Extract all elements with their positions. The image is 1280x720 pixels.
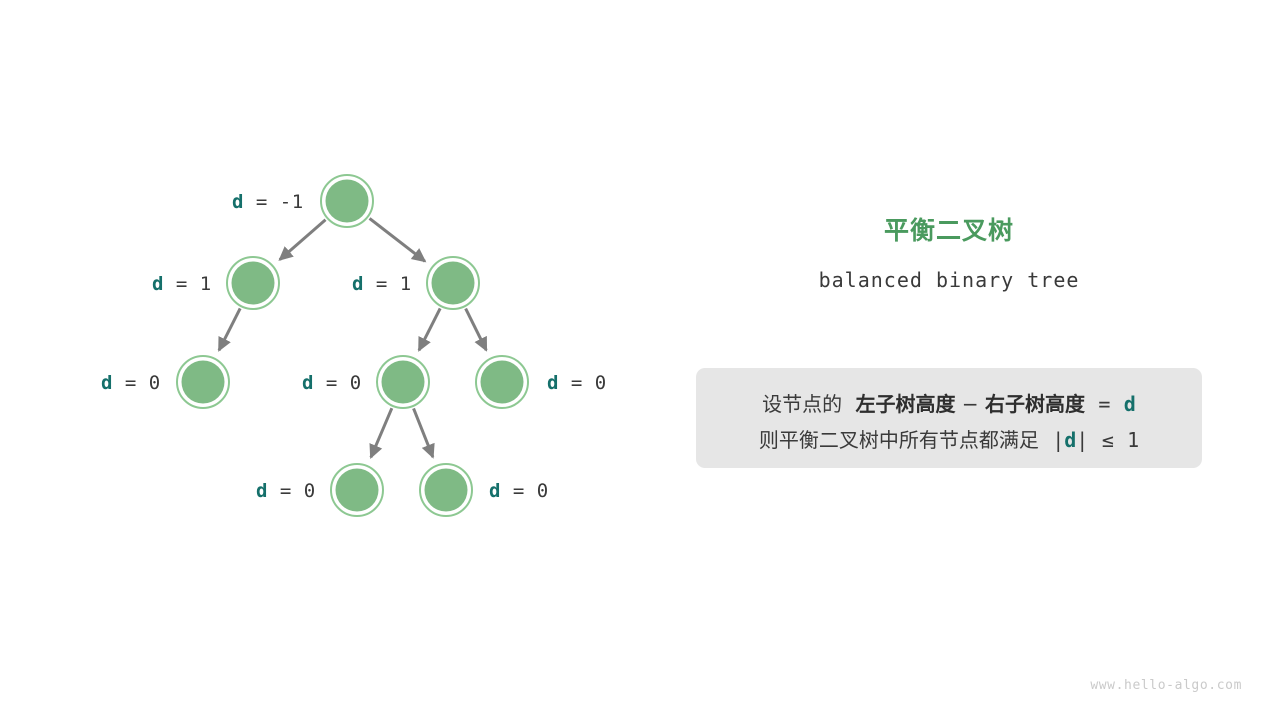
- definition-left-height: 左子树高度: [856, 392, 956, 416]
- tree-node-n-ll[interactable]: [182, 361, 225, 404]
- definition-box: 设节点的 左子树高度 − 右子树高度 = d 则平衡二叉树中所有节点都满足 |d…: [696, 368, 1202, 468]
- definition-right-height: 右子树高度: [985, 392, 1085, 416]
- definition-d-symbol-2: d: [1064, 428, 1076, 452]
- balance-value: = 0: [113, 372, 161, 394]
- balance-symbol: d: [302, 372, 314, 394]
- node-balance-label-n-l: d = 1: [152, 275, 212, 294]
- relation-value: 1: [1127, 428, 1139, 452]
- tree-edge: [219, 308, 240, 350]
- definition-lead-text: 设节点的: [762, 392, 842, 416]
- definition-minus-sign: −: [962, 392, 979, 416]
- balance-value: = 0: [559, 372, 607, 394]
- tree-nodes: [177, 175, 528, 516]
- node-balance-label-n-r: d = 1: [352, 275, 412, 294]
- balance-symbol: d: [232, 191, 244, 213]
- tree-edge: [419, 308, 440, 350]
- tree-node-n-rl[interactable]: [382, 361, 425, 404]
- balance-value: = 0: [501, 480, 549, 502]
- definition-d-symbol: d: [1124, 392, 1136, 416]
- tree-edge: [414, 408, 433, 457]
- definition-line-2: 则平衡二叉树中所有节点都满足 |d| ≤ 1: [696, 430, 1202, 450]
- relation-operator: ≤: [1102, 428, 1114, 452]
- balance-symbol: d: [352, 273, 364, 295]
- definition-condition-text: 则平衡二叉树中所有节点都满足: [759, 428, 1039, 452]
- node-balance-label-n-rl: d = 0: [302, 374, 362, 393]
- balance-symbol: d: [547, 372, 559, 394]
- node-balance-label-root: d = -1: [232, 193, 304, 212]
- panel-subtitle: balanced binary tree: [696, 268, 1202, 292]
- tree-node-n-r[interactable]: [432, 262, 475, 305]
- abs-bar-open: |: [1052, 428, 1064, 452]
- node-balance-label-n-rlr: d = 0: [489, 482, 549, 501]
- tree-node-n-rll[interactable]: [336, 469, 379, 512]
- balance-symbol: d: [152, 273, 164, 295]
- tree-node-root[interactable]: [326, 180, 369, 223]
- tree-edge: [370, 218, 425, 261]
- tree-edge: [466, 309, 487, 351]
- watermark: www.hello-algo.com: [1090, 679, 1242, 692]
- balance-value: = 0: [314, 372, 362, 394]
- binary-tree-graphic: [0, 0, 680, 720]
- tree-node-n-l[interactable]: [232, 262, 275, 305]
- balance-symbol: d: [489, 480, 501, 502]
- tree-edge: [371, 408, 392, 457]
- node-balance-label-n-rr: d = 0: [547, 374, 607, 393]
- balance-symbol: d: [256, 480, 268, 502]
- definition-equals-sign: =: [1098, 392, 1110, 416]
- balance-value: = -1: [244, 191, 304, 213]
- balance-value: = 0: [268, 480, 316, 502]
- definition-line-1: 设节点的 左子树高度 − 右子树高度 = d: [696, 394, 1202, 414]
- node-balance-label-n-rll: d = 0: [256, 482, 316, 501]
- balance-value: = 1: [164, 273, 212, 295]
- tree-node-n-rr[interactable]: [481, 361, 524, 404]
- tree-edges: [219, 218, 486, 457]
- balance-symbol: d: [101, 372, 113, 394]
- abs-bar-close: |: [1076, 428, 1088, 452]
- balance-value: = 1: [364, 273, 412, 295]
- tree-node-n-rlr[interactable]: [425, 469, 468, 512]
- panel-title: 平衡二叉树: [696, 216, 1202, 246]
- tree-edge: [280, 220, 326, 260]
- diagram-canvas: d = -1d = 1d = 1d = 0d = 0d = 0d = 0d = …: [0, 0, 1280, 720]
- concept-panel: 平衡二叉树 balanced binary tree: [696, 216, 1202, 292]
- node-balance-label-n-ll: d = 0: [101, 374, 161, 393]
